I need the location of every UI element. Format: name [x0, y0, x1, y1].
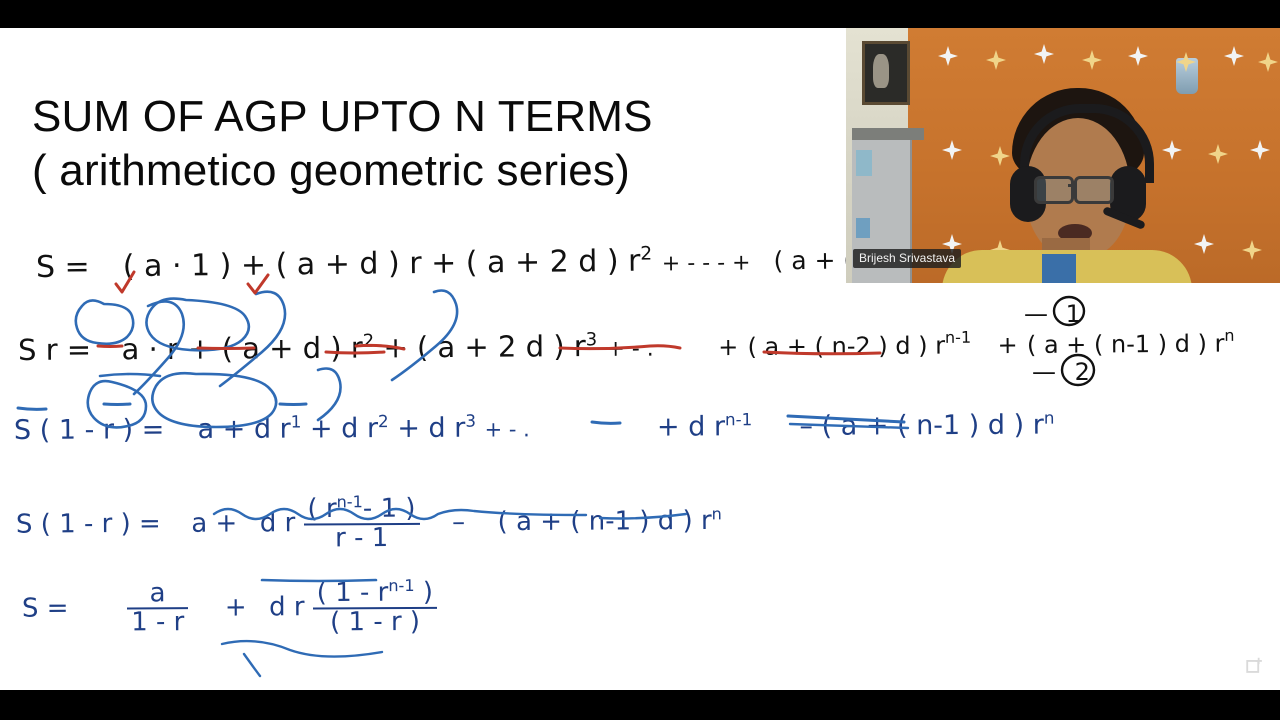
- wall-picture-frame: [862, 41, 910, 105]
- line3-term-4-exponent: 3: [465, 411, 476, 431]
- line2-plus-1: +: [188, 332, 213, 366]
- line3-plus-1: +: [223, 414, 246, 445]
- eyeglass-lens-left: [1034, 176, 1074, 204]
- line3-term-5: d r: [688, 411, 725, 442]
- line2-ellipsis: + - .: [606, 337, 654, 362]
- line2-term-1: a · r: [121, 332, 179, 366]
- line4-num-part-a: ( r: [307, 494, 336, 524]
- line2-term-4-exponent: n-1: [945, 328, 971, 347]
- line3-plus-4: +: [657, 412, 680, 443]
- line2-plus-4: +: [997, 331, 1017, 359]
- room-shelf: [852, 128, 924, 140]
- line3-term-5-exponent: n-1: [725, 409, 752, 429]
- line5-coefficient-dr: d r: [269, 592, 305, 622]
- eyeglass-bridge: [1068, 184, 1076, 187]
- participant-name-label: Brijesh Srivastava: [853, 249, 961, 268]
- line5-lhs: S =: [22, 593, 69, 623]
- blue-underline-S-line2: [18, 408, 46, 409]
- line2-term-2: ( a + d ) r: [222, 331, 363, 366]
- title-line-2: ( arithmetico geometric series): [32, 144, 832, 198]
- tag2-dash: —: [1032, 358, 1056, 386]
- line3-minus: –: [799, 411, 813, 442]
- letterbox-bottom: [0, 690, 1280, 720]
- line2-plus-2: +: [383, 330, 408, 364]
- line5-num-part-a: ( 1 - r: [317, 578, 389, 608]
- line1-term-3: ( a + 2 d ) r: [466, 244, 641, 281]
- line2-plus-3: +: [718, 333, 738, 361]
- line3-term-3: d r: [341, 413, 378, 444]
- line3-term-1: a: [197, 414, 214, 445]
- line4-coefficient-dr: d r: [260, 508, 296, 538]
- add-page-icon[interactable]: [1244, 655, 1266, 677]
- line1-term-3-exponent: 2: [640, 244, 652, 265]
- line1-lhs: S =: [36, 249, 90, 285]
- line3-term-2-exponent: 1: [291, 411, 302, 431]
- line4-num-part-b: - 1 ): [363, 494, 416, 524]
- line4-fraction-numerator: ( rn-1- 1 ): [303, 494, 419, 524]
- line2-term-4: ( a + ( n-2 ) d ) r: [747, 332, 945, 361]
- tag1-number: 1: [1056, 300, 1091, 328]
- line3-plus-3: +: [397, 413, 420, 444]
- line3-term-6: ( a + ( n-1 ) d ) r: [822, 410, 1044, 442]
- eyeglass-lens-right: [1074, 176, 1114, 204]
- letterbox-top: [0, 0, 1280, 28]
- tag2-number: 2: [1064, 358, 1101, 386]
- equation-line-3: S ( 1 - r ) = a + d r1 + d r2 + d r3 + -…: [14, 408, 1055, 446]
- line4-lhs: S ( 1 - r ) =: [16, 509, 161, 540]
- line1-plus-2: +: [431, 246, 457, 281]
- line4-num-exponent: n-1: [337, 492, 363, 511]
- blue-lasso-tail-1: [100, 374, 160, 376]
- blue-underline-a2d: [280, 404, 306, 405]
- line3-term-4: d r: [428, 413, 465, 444]
- line2-term-3: ( a + 2 d ) r: [417, 329, 586, 364]
- line5-fraction-2-numerator: ( 1 - rn-1 ): [313, 578, 437, 608]
- line5-fraction-1-denominator: 1 - r: [127, 607, 188, 637]
- line4-term-3: ( a + ( n-1 ) d ) r: [498, 506, 712, 537]
- line2-term-2-exponent: 2: [363, 331, 375, 352]
- presenter-collar: [1042, 254, 1076, 283]
- line1-term-2: ( a + d ) r: [275, 246, 421, 283]
- blue-slash-line5-den: [244, 654, 260, 676]
- line5-fraction-2: ( 1 - rn-1 ) ( 1 - r ): [313, 578, 438, 637]
- equation-1-reference-tag: — 1: [1024, 300, 1091, 328]
- line4-term-1: a: [191, 509, 207, 539]
- line1-ellipsis: + - - - +: [662, 251, 751, 277]
- line5-fraction-1: a 1 - r: [127, 580, 188, 637]
- webcam-video-tile[interactable]: Brijesh Srivastava: [846, 28, 1280, 283]
- title-line-1: SUM OF AGP UPTO N TERMS: [32, 92, 653, 141]
- line5-plus: +: [225, 592, 247, 622]
- fridge-detail-bottom: [856, 218, 870, 238]
- line2-term-5-exponent: n: [1224, 326, 1234, 345]
- line3-plus-2: +: [310, 413, 333, 444]
- equation-line-5: S = a 1 - r + d r ( 1 - rn-1 ) ( 1 - r ): [22, 578, 437, 638]
- line1-term-1: ( a · 1 ): [123, 248, 232, 284]
- line4-fraction-denominator: r - 1: [304, 523, 420, 553]
- screen-root: SUM OF AGP UPTO N TERMS ( arithmetico ge…: [0, 0, 1280, 720]
- blue-underline-ar: [104, 404, 130, 405]
- fridge-detail-top: [856, 150, 872, 176]
- line3-term-6-exponent: n: [1044, 408, 1055, 428]
- equation-line-4: S ( 1 - r ) = a + d r ( rn-1- 1 ) r - 1 …: [16, 492, 722, 554]
- page-title: SUM OF AGP UPTO N TERMS ( arithmetico ge…: [32, 90, 832, 197]
- line3-lhs: S ( 1 - r ) =: [14, 414, 165, 446]
- line5-fraction-2-denominator: ( 1 - r ): [313, 607, 437, 637]
- line2-lhs: S r =: [18, 332, 91, 367]
- line3-term-2: d r: [254, 414, 291, 445]
- line5-num-part-b: ): [415, 578, 434, 608]
- line4-fraction: ( rn-1- 1 ) r - 1: [303, 494, 419, 553]
- equation-2-reference-tag: — 2: [1032, 358, 1101, 386]
- line3-ellipsis: + - .: [485, 417, 530, 441]
- line4-minus: –: [452, 507, 465, 537]
- line5-num-exponent: n-1: [388, 576, 414, 595]
- line4-term-3-exponent: n: [712, 504, 722, 523]
- line4-plus-1: +: [215, 508, 237, 538]
- tag1-dash: —: [1024, 300, 1048, 328]
- line2-term-3-exponent: 3: [586, 329, 598, 350]
- line2-term-5: ( a + ( n-1 ) d ) r: [1027, 330, 1225, 359]
- line3-term-3-exponent: 2: [378, 411, 389, 431]
- line5-fraction-1-numerator: a: [127, 580, 188, 608]
- line1-plus-1: +: [241, 248, 267, 283]
- blue-underline-line5-frac: [222, 641, 382, 656]
